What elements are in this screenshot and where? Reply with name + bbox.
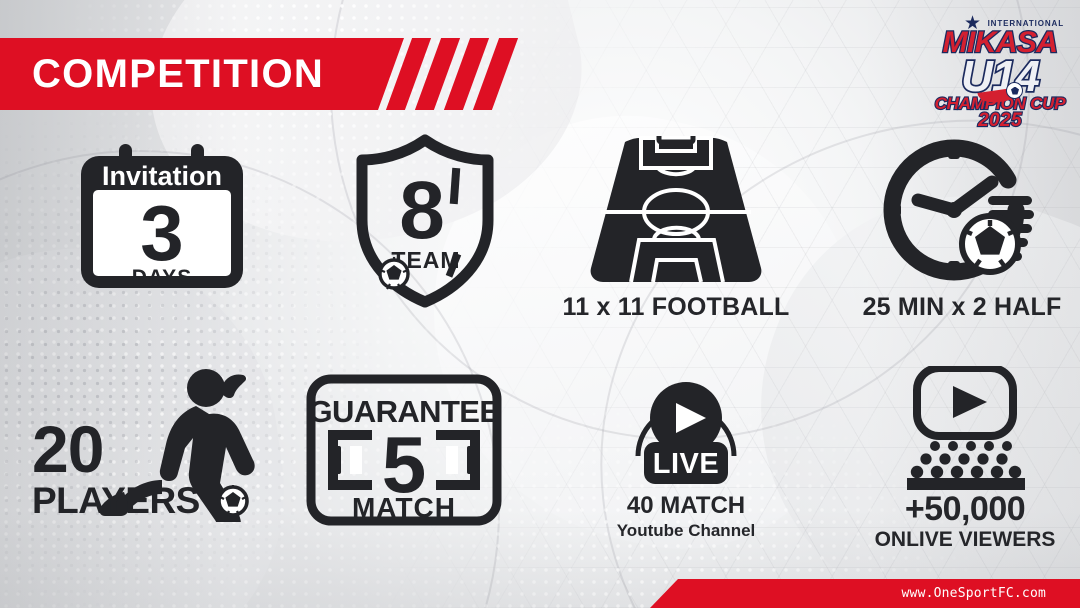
guarantee-bottom-label: MATCH (352, 492, 456, 523)
player-silhouette-icon: 20 PLAYERS (28, 362, 272, 522)
feature-caption: 40 MATCH (627, 494, 745, 519)
feature-item-players: 20 PLAYERS (28, 362, 278, 522)
calendar-header-label: Invitation (102, 161, 222, 191)
shield-icon: 8 TEAM (350, 134, 500, 309)
calendar-unit-label: DAYS (132, 266, 192, 289)
feature-item-live-matches: LIVE 40 MATCH Youtube Channel (572, 370, 800, 540)
players-label: PLAYERS (32, 480, 200, 521)
calendar-icon: Invitation 3 DAYS (71, 142, 253, 302)
feature-item-format: 11 x 11 FOOTBALL (556, 136, 796, 320)
live-play-button-icon: LIVE (614, 370, 758, 488)
players-value: 20 (32, 412, 103, 486)
viewers-label: ONLIVE VIEWERS (875, 529, 1056, 551)
header-banner: COMPETITION (0, 38, 560, 110)
feature-caption: 25 MIN x 2 HALF (863, 294, 1062, 320)
football-pitch-icon (583, 136, 769, 286)
feature-item-viewers: +50,000 ONLIVE VIEWERS (852, 366, 1078, 551)
feature-grid: Invitation 3 DAYS 8 TEAM (0, 128, 1080, 558)
infographic-canvas: COMPETITION ★ INTERNATIONAL MIKASA U14 C… (0, 0, 1080, 608)
shield-value: 8 (399, 165, 445, 256)
website-url: www.OneSportFC.com (902, 586, 1080, 601)
footer-red-bar: www.OneSportFC.com (650, 579, 1080, 608)
mikasa-u14-logo: ★ INTERNATIONAL MIKASA U14 CHAMPION CUP … (934, 6, 1066, 132)
soccer-ball-icon (1006, 82, 1023, 99)
feature-caption: 11 x 11 FOOTBALL (563, 294, 790, 320)
header-red-bar: COMPETITION (0, 38, 404, 110)
feature-item-teams: 8 TEAM (330, 134, 520, 309)
feature-item-invitation-days: Invitation 3 DAYS (52, 142, 272, 302)
feature-subcaption: Youtube Channel (617, 522, 756, 540)
viewers-count: +50,000 (905, 492, 1025, 527)
page-title: COMPETITION (0, 52, 324, 97)
live-badge-label: LIVE (653, 448, 719, 480)
clock-icon (876, 134, 1048, 286)
scoreboard-icon: GUARANTEE 5 MATCH (306, 374, 502, 526)
footer: www.OneSportFC.com (0, 579, 1080, 608)
feature-item-duration: 25 MIN x 2 HALF (848, 134, 1076, 320)
youtube-audience-icon (891, 366, 1039, 490)
feature-item-guarantee-match: GUARANTEE 5 MATCH (296, 374, 512, 526)
calendar-value: 3 (140, 189, 183, 277)
